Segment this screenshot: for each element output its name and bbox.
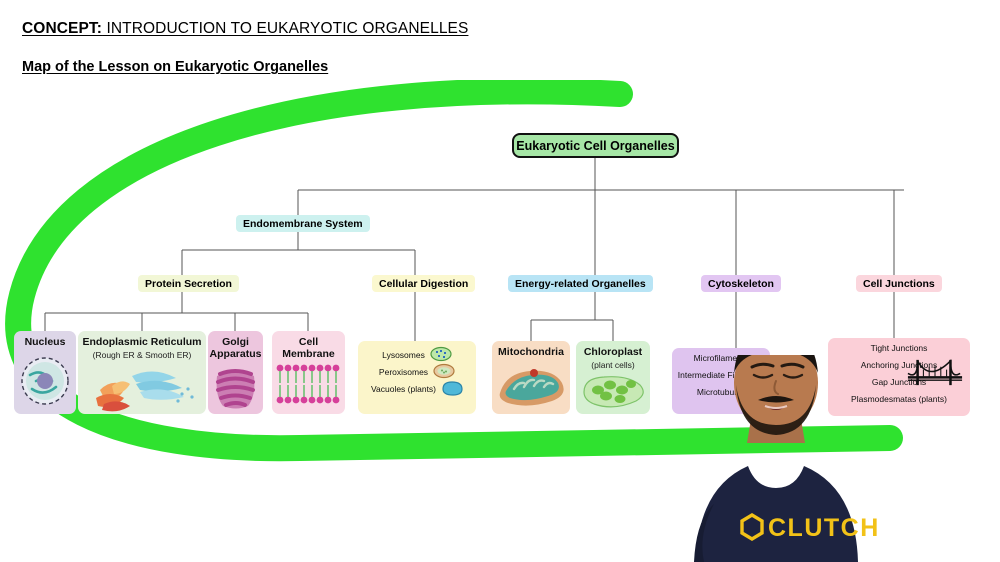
category-cell-junctions[interactable]: Cell Junctions — [856, 275, 942, 292]
category-cellular-digestion[interactable]: Cellular Digestion — [372, 275, 475, 292]
list-item: Microtubules — [697, 387, 745, 404]
card-cellular-digestion-items[interactable]: Lysosomes Peroxisomes Vacuoles (plants — [358, 341, 476, 414]
list-item: Plasmodesmatas (plants) — [851, 394, 947, 411]
category-energy-related-organelles[interactable]: Energy-related Organelles — [508, 275, 653, 292]
card-mitochondria-title: Mitochondria — [498, 347, 564, 359]
mitochondria-illustration — [492, 359, 570, 415]
card-chloroplast-title: Chloroplast — [584, 347, 642, 359]
card-mitochondria[interactable]: Mitochondria — [492, 341, 570, 414]
list-item: Peroxisomes — [379, 363, 455, 380]
card-membrane-title: Cell Membrane — [272, 337, 345, 360]
card-er-subtitle: (Rough ER & Smooth ER) — [93, 350, 192, 360]
nucleus-illustration — [14, 349, 76, 415]
suspension-bridge-icon — [906, 356, 964, 394]
digestion-item-label: Peroxisomes — [379, 367, 428, 377]
card-cell-junction-items[interactable]: Tight Junctions Anchoring Junctions Gap … — [828, 338, 970, 416]
digestion-item-label: Lysosomes — [382, 350, 425, 360]
card-endoplasmic-reticulum[interactable]: Endoplasmic Reticulum (Rough ER & Smooth… — [78, 331, 206, 414]
digestion-item-label: Vacuoles (plants) — [371, 384, 436, 394]
card-nucleus-title: Nucleus — [25, 337, 66, 349]
card-nucleus[interactable]: Nucleus — [14, 331, 76, 414]
lesson-slide: CONCEPT: INTRODUCTION TO EUKARYOTIC ORGA… — [0, 0, 1000, 562]
card-er-title: Endoplasmic Reticulum — [82, 337, 201, 349]
category-endomembrane-system[interactable]: Endomembrane System — [236, 215, 370, 232]
card-chloroplast[interactable]: Chloroplast (plant cells) — [576, 341, 650, 414]
card-golgi-apparatus[interactable]: Golgi Apparatus — [208, 331, 263, 414]
membrane-illustration — [272, 360, 345, 414]
list-item: Microfilaments — [694, 353, 749, 370]
er-illustration — [78, 360, 206, 415]
golgi-illustration — [208, 360, 263, 414]
peroxisome-icon — [433, 363, 455, 381]
vacuole-icon — [441, 380, 463, 398]
category-cytoskeleton[interactable]: Cytoskeleton — [701, 275, 781, 292]
card-chloroplast-subtitle: (plant cells) — [591, 360, 634, 370]
list-item: Vacuoles (plants) — [371, 380, 463, 397]
category-protein-secretion[interactable]: Protein Secretion — [138, 275, 239, 292]
card-cytoskeleton-items[interactable]: Microfilaments Intermediate Filaments Mi… — [672, 348, 770, 414]
chloroplast-illustration — [576, 370, 650, 415]
list-item: Intermediate Filaments — [678, 370, 764, 387]
lysosome-icon — [430, 346, 452, 364]
list-item: Lysosomes — [382, 346, 452, 363]
card-golgi-title: Golgi Apparatus — [208, 337, 263, 360]
root-node-eukaryotic-cell-organelles[interactable]: Eukaryotic Cell Organelles — [512, 133, 679, 158]
card-cell-membrane[interactable]: Cell Membrane — [272, 331, 345, 414]
